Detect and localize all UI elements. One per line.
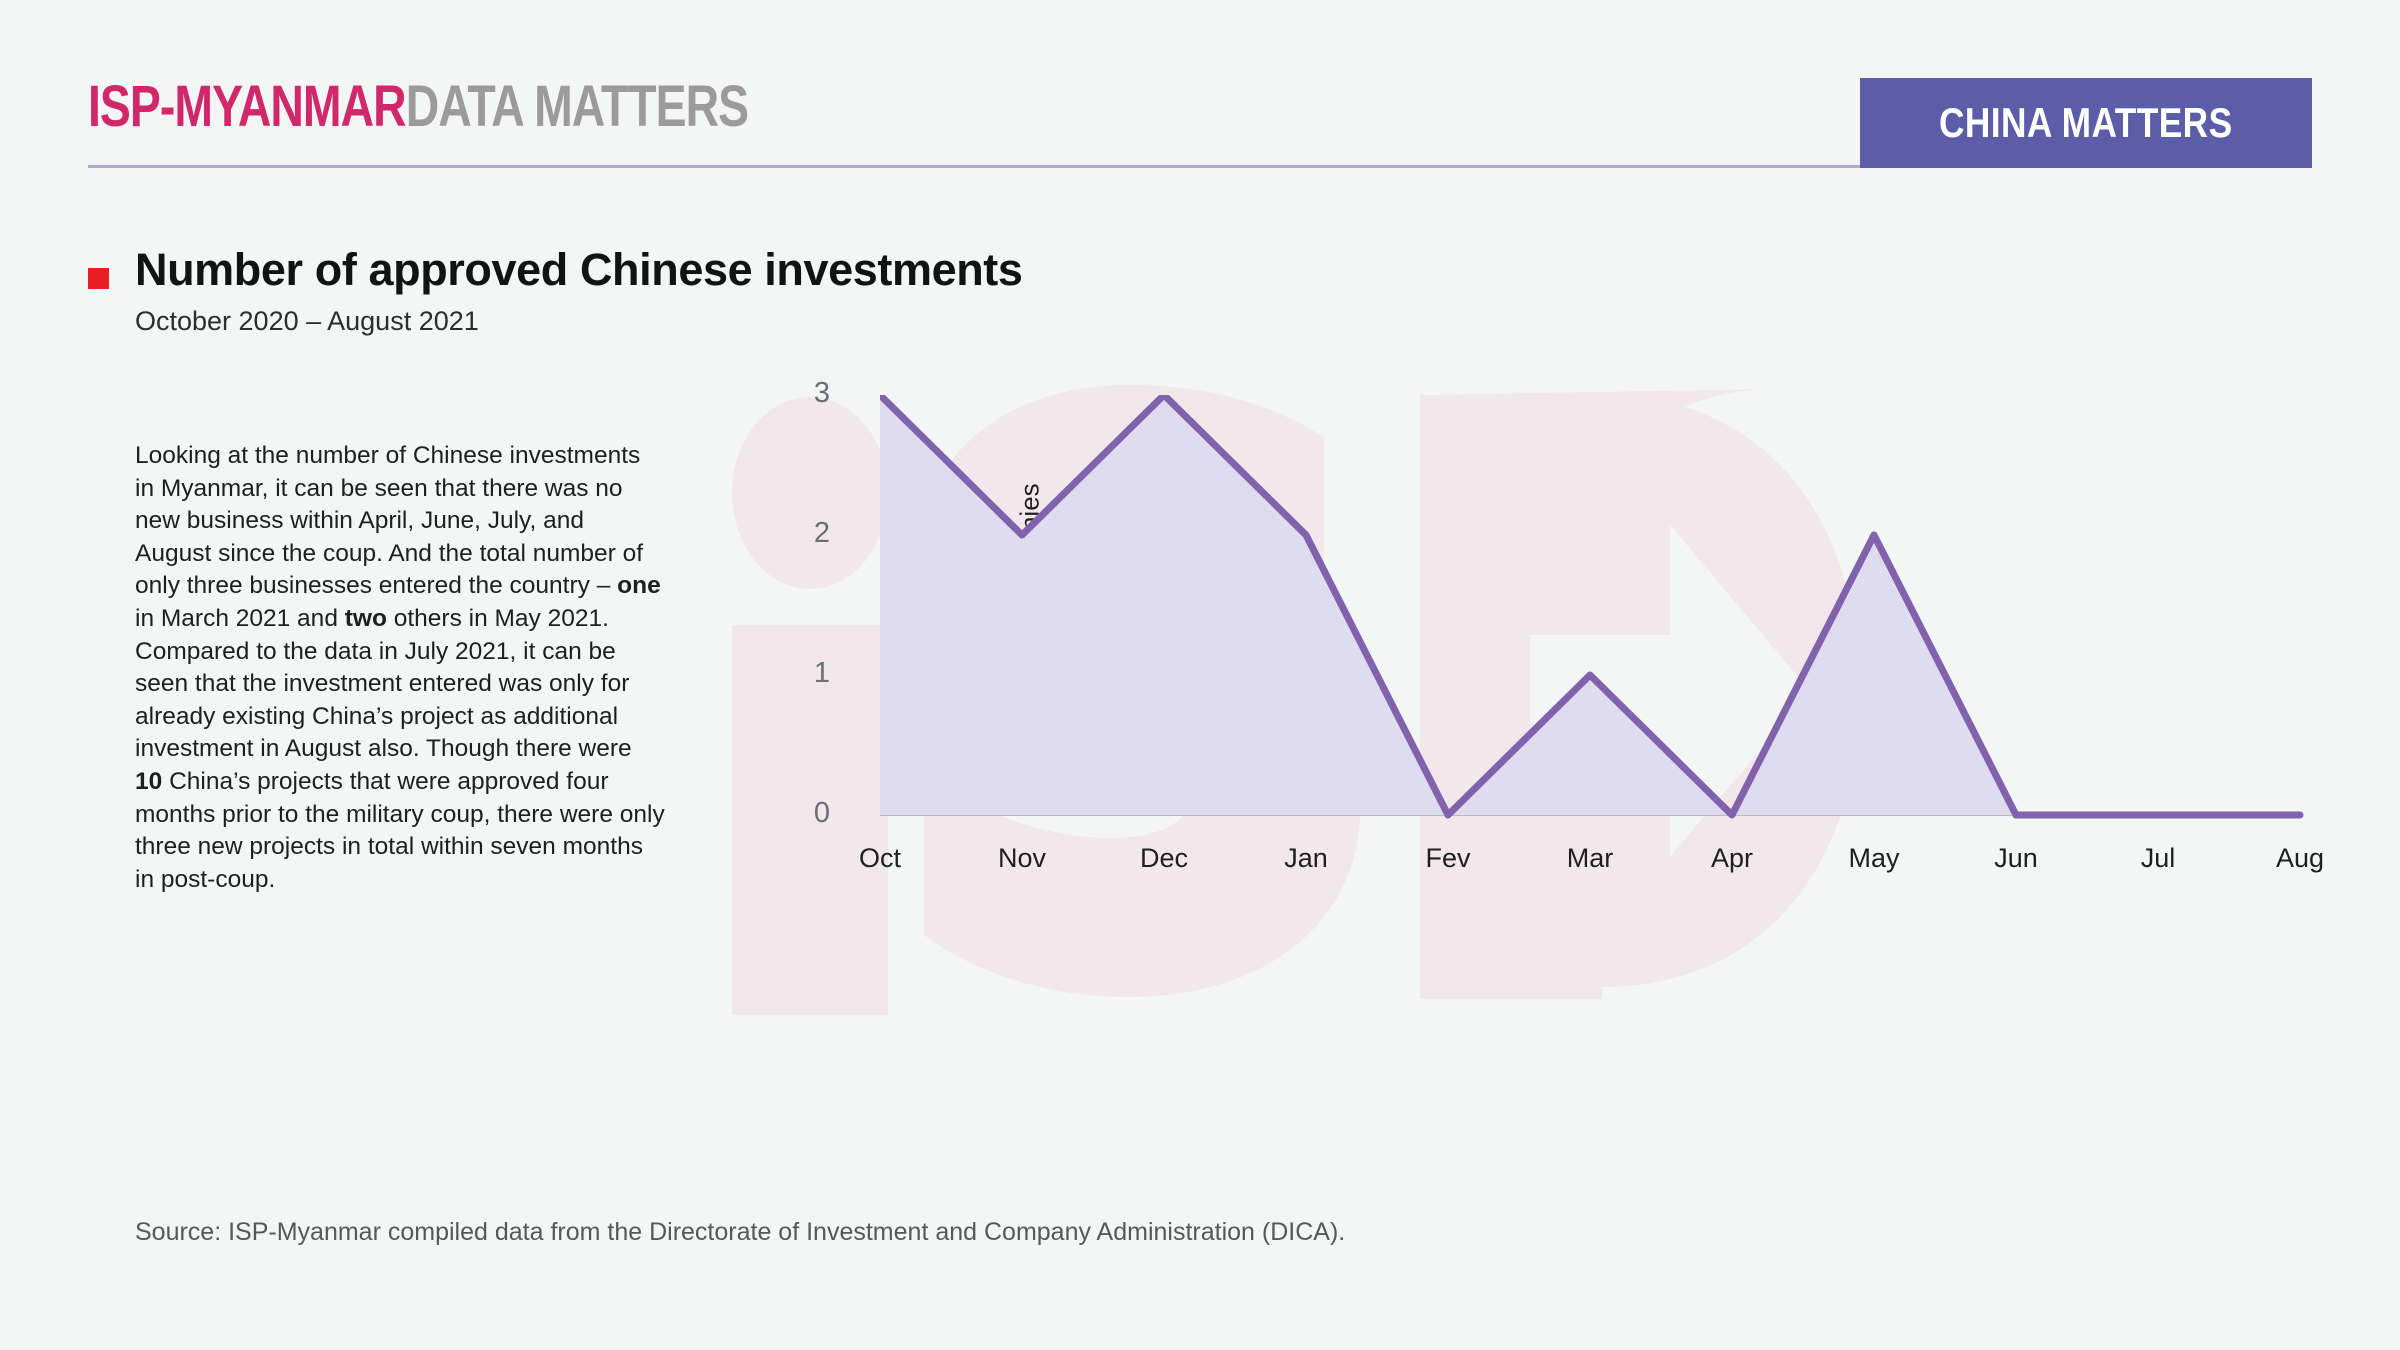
x-tick-nov: Nov (952, 843, 1092, 874)
x-tick-apr: Apr (1662, 843, 1802, 874)
commentary-part-1: Looking at the number of Chinese investm… (135, 442, 643, 599)
y-tick-2: 2 (770, 519, 830, 548)
commentary-part-4: China’s projects that were approved four… (135, 768, 665, 893)
y-tick-3: 3 (770, 379, 830, 408)
area-chart: Number of companies 3 2 1 0 Oct Nov Dec … (880, 395, 2330, 1115)
y-tick-1: 1 (770, 659, 830, 688)
x-tick-may: May (1804, 843, 1944, 874)
page-title: Number of approved Chinese investments (135, 245, 1023, 295)
x-tick-jul: Jul (2088, 843, 2228, 874)
brand-secondary: DATA MATTERS (406, 74, 748, 139)
x-tick-oct: Oct (810, 843, 950, 874)
commentary-part-2: in March 2021 and (135, 605, 345, 632)
x-tick-jun: Jun (1946, 843, 2086, 874)
source-note: Source: ISP-Myanmar compiled data from t… (135, 1218, 1345, 1247)
brand-wordmark: ISP-MYANMARDATA MATTERS (88, 78, 748, 136)
chart-plot-area (880, 395, 2330, 1115)
china-matters-badge[interactable]: CHINA MATTERS (1860, 78, 2312, 168)
x-tick-jan: Jan (1236, 843, 1376, 874)
series-area-fill (880, 395, 2300, 815)
x-tick-aug: Aug (2230, 843, 2370, 874)
x-tick-dec: Dec (1094, 843, 1234, 874)
y-tick-0: 0 (770, 799, 830, 828)
x-tick-fev: Fev (1378, 843, 1518, 874)
title-bullet-icon (88, 268, 109, 289)
brand-primary: ISP-MYANMAR (88, 74, 406, 139)
commentary-bold-3: 10 (135, 768, 162, 795)
x-tick-mar: Mar (1520, 843, 1660, 874)
commentary-bold-1: one (617, 572, 661, 599)
page-header: ISP-MYANMARDATA MATTERS CHINA MATTERS (0, 0, 2400, 175)
page-subtitle: October 2020 – August 2021 (135, 305, 479, 337)
commentary-paragraph: Looking at the number of Chinese investm… (135, 440, 665, 896)
commentary-bold-2: two (345, 605, 387, 632)
china-matters-badge-label: CHINA MATTERS (1939, 99, 2233, 147)
